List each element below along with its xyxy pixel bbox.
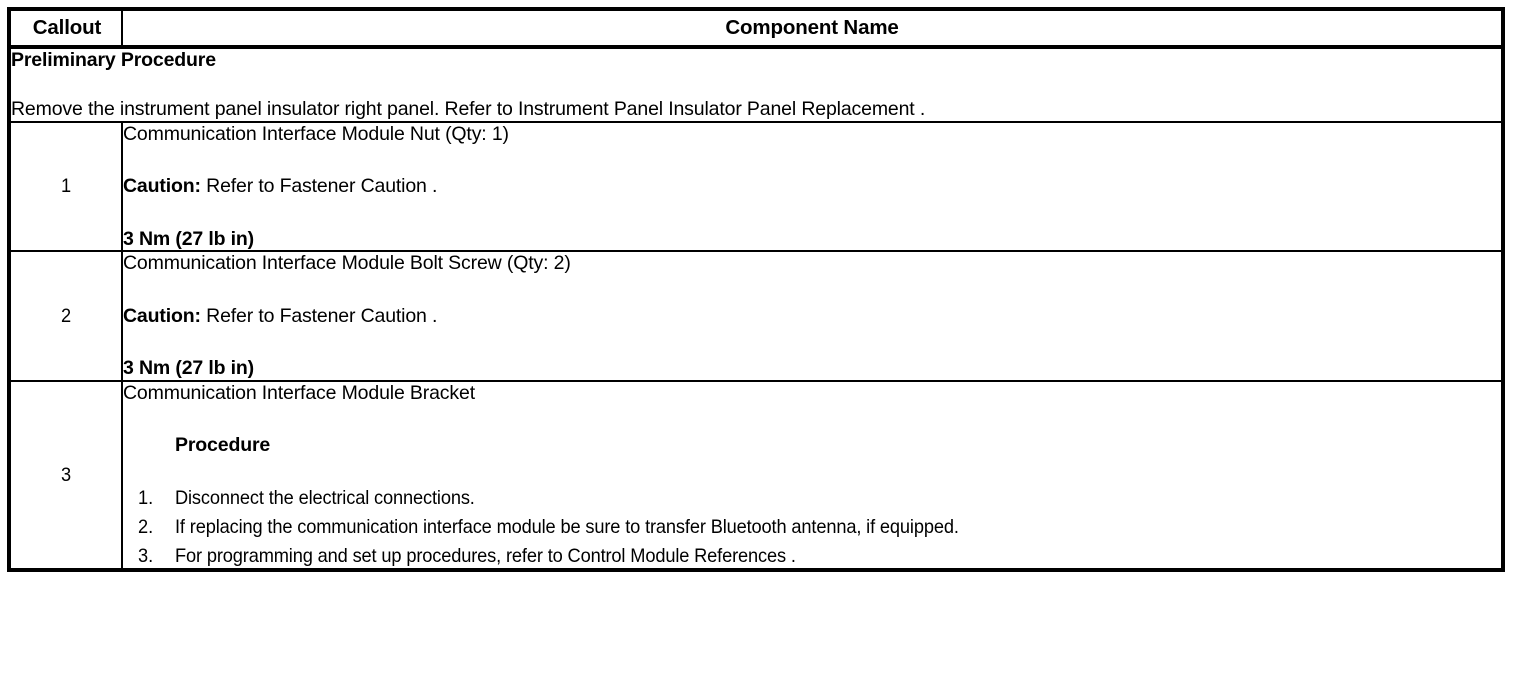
- step-marker: 2.: [138, 516, 153, 539]
- step-marker: 3.: [138, 545, 153, 568]
- column-header-component-name: Component Name: [122, 9, 1503, 47]
- service-procedure-table: Callout Component Name Preliminary Proce…: [7, 7, 1505, 572]
- preliminary-procedure-row: Preliminary Procedure Remove the instrum…: [9, 47, 1503, 122]
- document-page: Callout Component Name Preliminary Proce…: [0, 0, 1520, 676]
- preliminary-procedure-text: Remove the instrument panel insulator ri…: [11, 98, 925, 120]
- caution-text-2: Refer to Fastener Caution .: [201, 305, 437, 327]
- callout-number-1: 1: [9, 122, 122, 251]
- procedure-heading: Procedure: [175, 434, 270, 456]
- component-cell-2: Communication Interface Module Bolt Scre…: [122, 251, 1503, 380]
- table-row: 1 Communication Interface Module Nut (Qt…: [9, 122, 1503, 251]
- caution-label-1: Caution:: [123, 175, 201, 197]
- callout-number-3: 3: [9, 381, 122, 570]
- list-item: 2. If replacing the communication interf…: [123, 516, 1501, 539]
- component-cell-3: Communication Interface Module Bracket P…: [122, 381, 1503, 570]
- component-name-3: Communication Interface Module Bracket: [123, 382, 475, 404]
- callout-number-value: 2: [61, 305, 71, 327]
- torque-spec-2: 3 Nm (27 lb in): [123, 357, 254, 379]
- caution-text-1: Refer to Fastener Caution .: [201, 175, 437, 197]
- table-header-row: Callout Component Name: [9, 9, 1503, 47]
- torque-spec-1: 3 Nm (27 lb in): [123, 228, 254, 250]
- table-row: 2 Communication Interface Module Bolt Sc…: [9, 251, 1503, 380]
- preliminary-procedure-cell: Preliminary Procedure Remove the instrum…: [9, 47, 1503, 122]
- callout-number-value: 1: [61, 175, 71, 197]
- procedure-step-list: 1. Disconnect the electrical connections…: [123, 487, 1501, 568]
- preliminary-procedure-title: Preliminary Procedure: [11, 49, 216, 71]
- component-name-2: Communication Interface Module Bolt Scre…: [123, 252, 571, 274]
- caution-label-2: Caution:: [123, 305, 201, 327]
- callout-number-value: 3: [61, 464, 71, 486]
- column-header-callout: Callout: [9, 9, 122, 47]
- component-cell-1: Communication Interface Module Nut (Qty:…: [122, 122, 1503, 251]
- step-text: Disconnect the electrical connections.: [175, 487, 475, 509]
- step-marker: 1.: [138, 487, 153, 510]
- column-header-component-name-label: Component Name: [725, 16, 898, 39]
- step-text: If replacing the communication interface…: [175, 516, 959, 538]
- column-header-callout-label: Callout: [31, 16, 101, 39]
- callout-number-2: 2: [9, 251, 122, 380]
- list-item: 3. For programming and set up procedures…: [123, 545, 1501, 568]
- step-text: For programming and set up procedures, r…: [175, 545, 796, 567]
- table-row: 3 Communication Interface Module Bracket…: [9, 381, 1503, 570]
- list-item: 1. Disconnect the electrical connections…: [123, 487, 1501, 510]
- component-name-1: Communication Interface Module Nut (Qty:…: [123, 123, 509, 145]
